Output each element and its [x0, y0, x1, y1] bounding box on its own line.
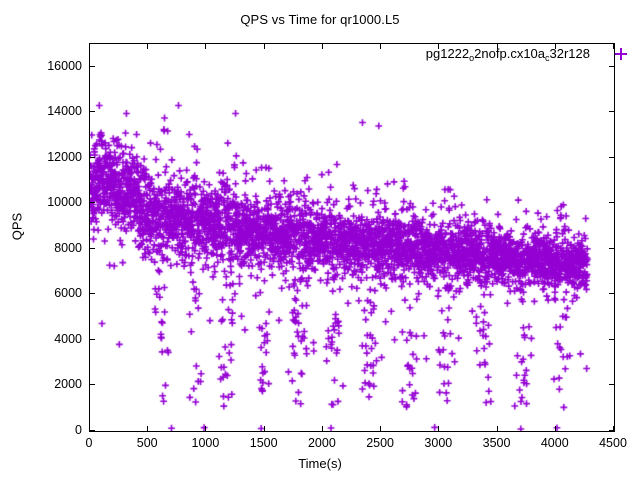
y-tick-mark — [609, 248, 614, 249]
y-tick-mark — [609, 339, 614, 340]
y-tick-mark — [609, 111, 614, 112]
x-tick-mark — [147, 426, 148, 431]
x-tick-mark — [89, 44, 90, 49]
y-tick-mark — [609, 66, 614, 67]
y-tick-mark — [609, 384, 614, 385]
y-tick-mark — [609, 157, 614, 158]
x-tick-label: 500 — [117, 436, 177, 450]
x-tick-label: 2500 — [350, 436, 410, 450]
x-tick-mark — [497, 426, 498, 431]
x-tick-mark — [147, 44, 148, 49]
x-tick-label: 0 — [59, 436, 119, 450]
y-tick-mark — [90, 430, 95, 431]
x-tick-mark — [497, 44, 498, 49]
legend-label-main: pg1222 — [426, 46, 469, 61]
x-tick-mark — [205, 44, 206, 49]
x-tick-mark — [438, 44, 439, 49]
x-tick-label: 1000 — [175, 436, 235, 450]
x-tick-mark — [89, 426, 90, 431]
x-tick-mark — [205, 426, 206, 431]
y-tick-label: 16000 — [12, 59, 82, 73]
y-axis-title: QPS — [10, 197, 25, 257]
x-tick-mark — [264, 44, 265, 49]
y-tick-label: 12000 — [12, 150, 82, 164]
y-tick-label: 0 — [12, 423, 82, 437]
x-tick-mark — [264, 426, 265, 431]
x-tick-mark — [555, 44, 556, 49]
x-tick-mark — [613, 44, 614, 49]
y-tick-mark — [90, 202, 95, 203]
y-tick-label: 4000 — [12, 332, 82, 346]
y-tick-mark — [90, 248, 95, 249]
x-tick-label: 3000 — [408, 436, 468, 450]
y-tick-mark — [90, 66, 95, 67]
chart-legend: pg1222o2nofp.cx10ac32r128 — [426, 46, 628, 61]
x-axis-tick-labels: 050010001500200025003000350040004500 — [0, 436, 640, 456]
x-tick-label: 1500 — [234, 436, 294, 450]
legend-label-mid: 2nofp.cx10a — [474, 46, 545, 61]
legend-plus-marker-icon — [614, 47, 628, 61]
y-tick-label: 14000 — [12, 104, 82, 118]
chart-container: QPS vs Time for qr1000.L5 pg1222o2nofp.c… — [0, 0, 640, 480]
y-tick-mark — [90, 111, 95, 112]
y-tick-mark — [609, 202, 614, 203]
x-tick-mark — [322, 44, 323, 49]
legend-label-sub2: c — [545, 53, 550, 63]
y-tick-label: 2000 — [12, 377, 82, 391]
y-tick-mark — [609, 293, 614, 294]
x-tick-label: 3500 — [467, 436, 527, 450]
x-tick-mark — [438, 426, 439, 431]
legend-label-sub1: o — [469, 53, 474, 63]
y-tick-label: 6000 — [12, 286, 82, 300]
x-tick-label: 4000 — [525, 436, 585, 450]
x-tick-mark — [322, 426, 323, 431]
x-tick-mark — [613, 426, 614, 431]
y-tick-mark — [90, 293, 95, 294]
plot-area — [89, 43, 615, 432]
y-tick-mark — [90, 339, 95, 340]
x-tick-label: 2000 — [292, 436, 352, 450]
x-axis-title: Time(s) — [0, 456, 640, 471]
x-tick-label: 4500 — [583, 436, 640, 450]
x-tick-mark — [380, 426, 381, 431]
legend-series-label: pg1222o2nofp.cx10ac32r128 — [426, 46, 590, 61]
scatter-plot-canvas — [90, 44, 614, 431]
y-tick-mark — [90, 157, 95, 158]
chart-title: QPS vs Time for qr1000.L5 — [0, 12, 640, 27]
x-tick-mark — [555, 426, 556, 431]
y-tick-mark — [90, 384, 95, 385]
x-tick-mark — [380, 44, 381, 49]
